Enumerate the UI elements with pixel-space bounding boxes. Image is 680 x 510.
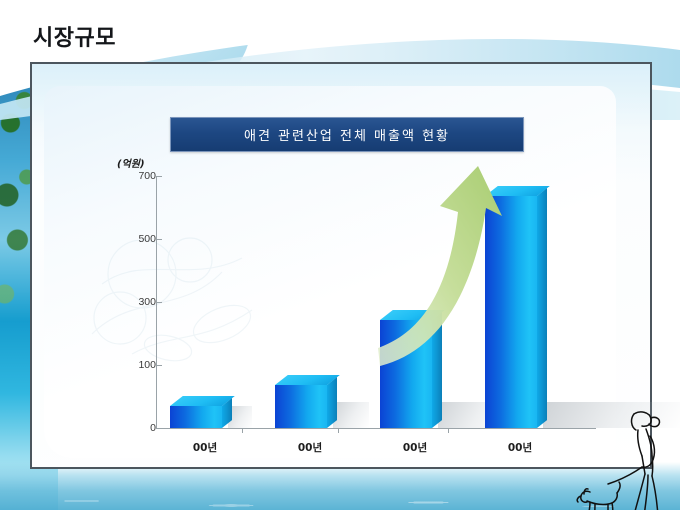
bar-series [156,150,596,428]
x-axis-line [156,428,596,429]
x-axis-label-0: 00년 [170,440,240,455]
page-title: 시장규모 [33,20,116,52]
y-tick-label-0: 0 [114,422,156,434]
slide-canvas: 시장규모 애견 관련산업 전체 매출액 현황 (억원) 700 500 300 [0,0,680,510]
bar-column-3 [485,196,537,428]
bar-side-face [432,312,442,428]
x-tickmark-2 [338,428,339,433]
x-axis-label-2: 00년 [380,440,450,455]
bar-side-face [327,377,337,428]
x-tickmark-1 [242,428,243,433]
bar-side-face [537,188,547,428]
y-tick-label-100: 100 [114,359,156,371]
bar-front-face [275,385,327,428]
bar-column-2 [380,320,432,428]
bar-chart: (억원) 700 500 300 100 0 [60,150,620,460]
bar-front-face [485,196,537,428]
person-walking-dog-icon [560,402,670,510]
y-tick-label-300: 300 [114,296,156,308]
y-axis-ticks: 700 500 300 100 0 [60,150,156,460]
x-tickmark-3 [448,428,449,433]
chart-title-bar: 애견 관련산업 전체 매출액 현황 [170,117,524,152]
bar-shadow [333,402,369,428]
y-tick-label-500: 500 [114,233,156,245]
bar-column-1 [275,385,327,428]
bar-column-0 [170,406,222,428]
y-tick-label-700: 700 [114,170,156,182]
x-axis-label-1: 00년 [275,440,345,455]
bar-front-face [380,320,432,428]
x-axis-label-3: 00년 [485,440,555,455]
bar-front-face [170,406,222,428]
